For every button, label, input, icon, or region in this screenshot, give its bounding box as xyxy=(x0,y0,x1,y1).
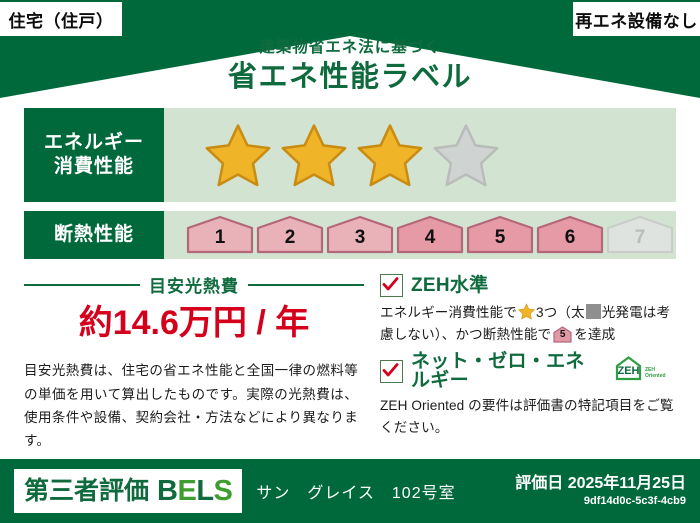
utility-cost-heading-text: 目安光熱費 xyxy=(149,272,239,297)
energy-performance-row: エネルギー 消費性能 xyxy=(24,108,676,202)
utility-cost-note: 目安光熱費は、住宅の省エネ性能と全国一律の燃料等の単価を用いて算出したものです。… xyxy=(24,359,364,452)
insulation-level-number: 6 xyxy=(536,228,604,247)
checkbox-net-zero-energy[interactable] xyxy=(380,360,403,383)
third-party-label: 第三者評価 xyxy=(24,479,149,504)
bels-plate: 第三者評価 BELS xyxy=(14,469,242,513)
insulation-performance-label: 断熱性能 xyxy=(24,211,164,259)
cost-rule-left xyxy=(24,284,140,286)
certification-checks: ZEH水準 エネルギー消費性能で 3つ（太光発電は考慮しない）、かつ断熱性能で … xyxy=(364,268,676,452)
insulation-level-number: 7 xyxy=(606,228,674,247)
utility-cost-amount: 約14.6万円 / 年 xyxy=(24,305,364,342)
check-body-zeh-standard: エネルギー消費性能で 3つ（太光発電は考慮しない）、かつ断熱性能で 5 を達成 xyxy=(380,302,676,346)
insulation-level-number: 5 xyxy=(466,228,534,247)
insulation-level-number: 1 xyxy=(186,228,254,247)
insulation-level-badge: 6 xyxy=(536,215,604,255)
energy-performance-label-line2: 消費性能 xyxy=(54,155,134,179)
utility-cost-panel: 目安光熱費 約14.6万円 / 年 目安光熱費は、住宅の省エネ性能と全国一律の燃… xyxy=(24,268,364,452)
energy-label-card: 住宅（住戸） 再エネ設備なし 建築物省エネ法に基づく 省エネ性能ラベル エネルギ… xyxy=(0,0,700,523)
footer-bar: 第三者評価 BELS サン グレイス 102号室 評価日 2025年11月25日… xyxy=(0,459,700,523)
cost-rule-right xyxy=(248,284,364,286)
check-title-zeh-standard: ZEH水準 xyxy=(380,274,676,297)
insulation-level-badge: 4 xyxy=(396,215,464,255)
tag-renewable-equipment: 再エネ設備なし xyxy=(572,2,700,36)
evaluation-date-label: 評価日 xyxy=(515,475,563,492)
check-icon xyxy=(382,362,399,379)
inline-star-icon xyxy=(518,303,535,320)
check-title-net-zero-energy: ネット・ゼロ・エネルギー ZEH ZEH Oriented xyxy=(380,352,676,390)
svg-text:Oriented: Oriented xyxy=(645,373,666,379)
bels-logo: BELS xyxy=(157,477,232,506)
check-item-net-zero-energy: ネット・ゼロ・エネルギー ZEH ZEH Oriented ZEH Orient… xyxy=(380,352,676,439)
check-body-prefix: エネルギー消費性能で xyxy=(380,305,517,320)
redaction-block xyxy=(586,304,601,319)
tag-renewable-equipment-text: 再エネ設備なし xyxy=(575,7,698,32)
insulation-level-badge: 7 xyxy=(606,215,674,255)
insulation-performance-value: 1234567 xyxy=(164,211,676,259)
insulation-performance-row: 断熱性能 1234567 xyxy=(24,211,676,259)
evaluation-id: 9df14d0c-5c3f-4cb9 xyxy=(515,495,686,507)
evaluation-date: 評価日 2025年11月25日 xyxy=(515,475,686,493)
check-item-zeh-standard: ZEH水準 エネルギー消費性能で 3つ（太光発電は考慮しない）、かつ断熱性能で … xyxy=(380,274,676,346)
svg-text:ZEH: ZEH xyxy=(618,365,640,377)
energy-performance-label: エネルギー 消費性能 xyxy=(24,108,164,202)
check-label-net-zero-energy: ネット・ゼロ・エネルギー xyxy=(411,352,602,390)
lower-section: 目安光熱費 約14.6万円 / 年 目安光熱費は、住宅の省エネ性能と全国一律の燃… xyxy=(24,268,676,452)
building-name: サン グレイス 102号室 xyxy=(256,479,455,503)
check-body-stars: 3つ（太 xyxy=(536,305,585,320)
evaluation-info: 評価日 2025年11月25日 9df14d0c-5c3f-4cb9 xyxy=(515,475,686,507)
star-icon-empty xyxy=(430,121,502,189)
insulation-level-number: 2 xyxy=(256,228,324,247)
mini-house-level: 5 xyxy=(553,330,572,340)
zeh-oriented-logo: ZEH ZEH Oriented xyxy=(614,355,676,383)
star-icon-filled xyxy=(354,121,426,189)
check-label-zeh-standard: ZEH水準 xyxy=(411,276,489,295)
tag-building-type-text: 住宅（住戸） xyxy=(9,7,114,32)
star-icon-filled xyxy=(278,121,350,189)
star-icon xyxy=(518,303,535,320)
energy-performance-value xyxy=(164,108,676,202)
tag-building-type: 住宅（住戸） xyxy=(0,2,123,36)
check-icon xyxy=(382,276,399,293)
insulation-level-number: 3 xyxy=(326,228,394,247)
check-body-net-zero-energy: ZEH Oriented の要件は評価書の特記項目をご覧ください。 xyxy=(380,395,676,439)
star-icon-filled xyxy=(202,121,274,189)
checkbox-zeh-standard[interactable] xyxy=(380,274,403,297)
insulation-level-scale: 1234567 xyxy=(186,215,674,255)
energy-performance-label-line1: エネルギー xyxy=(44,131,144,155)
label-content: エネルギー 消費性能 断熱性能 1234567 目安光熱費 xyxy=(24,108,676,452)
evaluation-date-value: 2025年11月25日 xyxy=(568,475,686,492)
insulation-performance-label-text: 断熱性能 xyxy=(54,223,134,247)
insulation-level-badge: 1 xyxy=(186,215,254,255)
utility-cost-heading: 目安光熱費 xyxy=(24,272,364,297)
star-rating xyxy=(202,121,502,189)
insulation-level-badge: 3 xyxy=(326,215,394,255)
check-body-suffix: を達成 xyxy=(574,327,615,342)
insulation-level-number: 4 xyxy=(396,228,464,247)
insulation-level-badge: 5 xyxy=(466,215,534,255)
insulation-level-badge: 2 xyxy=(256,215,324,255)
zeh-logo-icon: ZEH ZEH Oriented xyxy=(614,355,676,388)
mini-house-icon: 5 xyxy=(553,326,572,343)
